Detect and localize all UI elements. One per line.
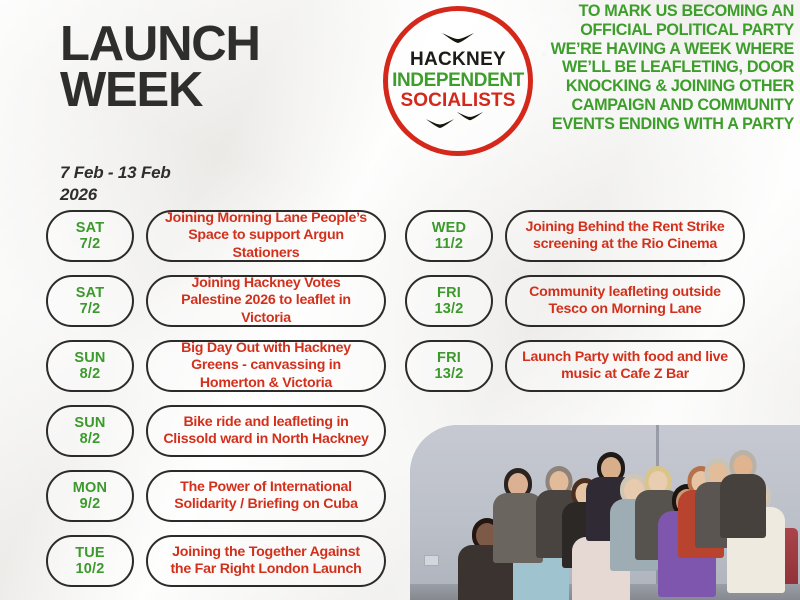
date-pill: SAT7/2 [46,275,134,327]
schedule-row: SAT7/2Joining Morning Lane People’s Spac… [46,210,386,262]
poster: LAUNCH WEEK 7 Feb - 13 Feb 2026 HACKNEY … [0,0,800,600]
date-pill-date: 13/2 [434,301,463,317]
date-pill: TUE10/2 [46,535,134,587]
intro-text: TO MARK US BECOMING AN OFFICIAL POLITICA… [548,2,794,133]
date-pill-day: SUN [74,350,105,366]
bird-icon [425,118,455,130]
date-pill: FRI13/2 [405,275,493,327]
date-pill-date: 8/2 [80,366,101,382]
event-pill: Joining the Together Against the Far Rig… [146,535,386,587]
event-pill: Launch Party with food and live music at… [505,340,745,392]
bird-icon [456,111,484,122]
schedule-row: TUE10/2Joining the Together Against the … [46,535,386,587]
date-range-line-1: 7 Feb - 13 Feb [60,162,260,184]
date-pill: WED11/2 [405,210,493,262]
date-pill: FRI13/2 [405,340,493,392]
date-pill-day: SUN [74,415,105,431]
headline-line-2: WEEK [60,68,390,114]
date-pill-date: 8/2 [80,431,101,447]
date-pill-date: 10/2 [75,561,104,577]
group-photo [410,425,800,600]
date-pill-date: 9/2 [80,496,101,512]
date-pill-date: 7/2 [80,236,101,252]
logo-line-hackney: HACKNEY [383,50,533,71]
hackney-independent-socialists-logo: HACKNEY INDEPENDENT SOCIALISTS [383,6,533,156]
schedule-row: MON9/2The Power of International Solidar… [46,470,386,522]
event-pill: Community leafleting outside Tesco on Mo… [505,275,745,327]
date-pill-day: TUE [75,545,105,561]
schedule-row: SUN8/2Big Day Out with Hackney Greens - … [46,340,386,392]
schedule-column-left: SAT7/2Joining Morning Lane People’s Spac… [46,210,386,600]
logo-line-independent: INDEPENDENT [383,71,533,92]
date-pill-date: 11/2 [435,236,463,252]
schedule-row: FRI13/2Community leafleting outside Tesc… [405,275,745,327]
date-pill: SUN8/2 [46,405,134,457]
logo-text: HACKNEY INDEPENDENT SOCIALISTS [383,50,533,112]
date-pill: MON9/2 [46,470,134,522]
schedule-row: SAT7/2Joining Hackney Votes Palestine 20… [46,275,386,327]
schedule-row: SUN8/2Bike ride and leafleting in Clisso… [46,405,386,457]
schedule-row: FRI13/2Launch Party with food and live m… [405,340,745,392]
event-pill: The Power of International Solidarity / … [146,470,386,522]
bird-icon [441,32,475,45]
date-pill: SUN8/2 [46,340,134,392]
logo-line-socialists: SOCIALISTS [383,91,533,112]
event-pill: Joining Morning Lane People’s Space to s… [146,210,386,262]
date-range: 7 Feb - 13 Feb 2026 [60,162,260,205]
date-pill-date: 7/2 [80,301,101,317]
event-pill: Big Day Out with Hackney Greens - canvas… [146,340,386,392]
schedule-column-right: WED11/2Joining Behind the Rent Strike sc… [405,210,745,405]
event-pill: Bike ride and leafleting in Clissold war… [146,405,386,457]
date-pill-day: WED [432,220,466,236]
date-pill-day: SAT [76,220,105,236]
headline-line-1: LAUNCH [60,22,390,68]
page-title: LAUNCH WEEK [60,22,390,113]
event-pill: Joining Behind the Rent Strike screening… [505,210,745,262]
photo-person-body [720,474,766,538]
date-pill-date: 13/2 [434,366,463,382]
date-pill-day: SAT [76,285,105,301]
photo-person [720,453,766,536]
date-pill-day: FRI [437,350,461,366]
date-pill-day: MON [73,480,107,496]
date-pill-day: FRI [437,285,461,301]
date-pill: SAT7/2 [46,210,134,262]
schedule-row: WED11/2Joining Behind the Rent Strike sc… [405,210,745,262]
event-pill: Joining Hackney Votes Palestine 2026 to … [146,275,386,327]
photo-wall-socket [424,555,439,566]
date-range-line-2: 2026 [60,184,260,206]
